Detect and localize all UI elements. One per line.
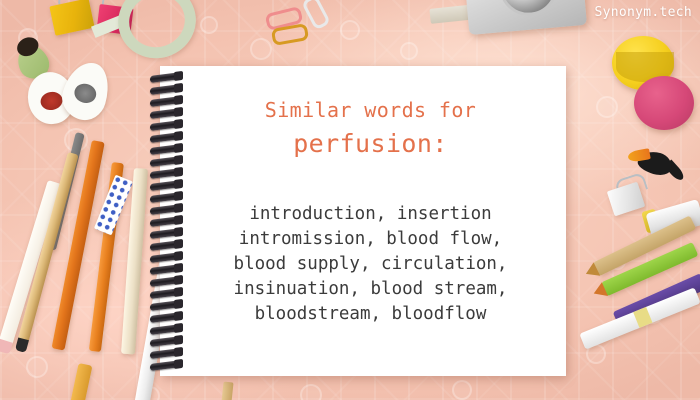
card-content: Similar words for perfusion: introductio… [175, 66, 566, 376]
macaron-pink [634, 76, 694, 130]
small-pencil [220, 382, 233, 400]
camera-lens [497, 0, 560, 18]
screenshot-canvas: Similar words for perfusion: introductio… [0, 0, 700, 400]
card-title: Similar words for [265, 98, 477, 122]
brand-watermark: Synonym.tech [594, 5, 692, 20]
synonym-line: bloodstream, bloodflow [234, 302, 508, 327]
synonym-line: intromission, blood flow, [234, 227, 508, 252]
synonym-line: blood supply, circulation, [234, 252, 508, 277]
synonym-line: insinuation, blood stream, [234, 277, 508, 302]
synonym-line: introduction, insertion [234, 202, 508, 227]
card-headword: perfusion: [293, 129, 448, 158]
synonym-list: introduction, insertion intromission, bl… [234, 202, 508, 327]
